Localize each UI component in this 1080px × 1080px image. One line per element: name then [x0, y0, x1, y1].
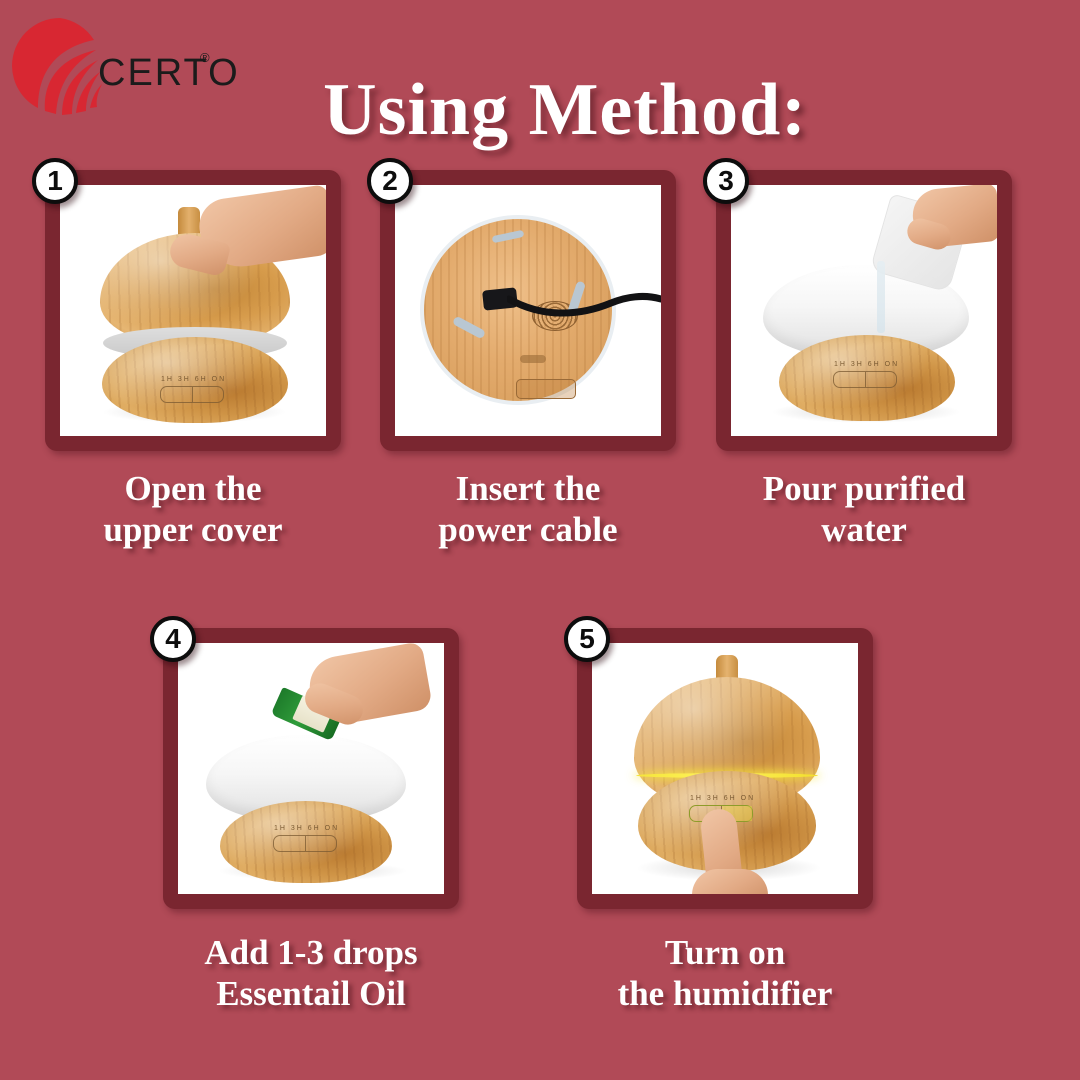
page-header: CERTO ® Using Method: — [0, 0, 1080, 140]
step-number-badge: 2 — [367, 158, 413, 204]
step-2-photo — [395, 185, 661, 436]
step-5-photo: 1H 3H 6H ON — [592, 643, 858, 894]
control-labels: 1H 3H 6H ON — [161, 376, 226, 383]
battery-label-plate — [516, 379, 576, 399]
vent-slot — [492, 230, 525, 244]
control-labels: 1H 3H 6H ON — [690, 795, 755, 802]
page-title: Using Method: — [265, 68, 865, 153]
registered-trademark-icon: ® — [200, 50, 210, 65]
step-4-photo: 1H 3H 6H ON — [178, 643, 444, 894]
control-buttons[interactable] — [833, 371, 897, 388]
step-number-badge: 4 — [150, 616, 196, 662]
step-number-badge: 3 — [703, 158, 749, 204]
step-4-caption: Add 1-3 drops Essentail Oil — [143, 932, 479, 1015]
water-stream — [877, 261, 885, 333]
step-3-caption: Pour purified water — [696, 468, 1032, 551]
power-cable — [507, 281, 661, 327]
step-1-photo: 1H 3H 6H ON — [60, 185, 326, 436]
control-labels: 1H 3H 6H ON — [274, 825, 339, 832]
control-buttons[interactable] — [160, 386, 224, 403]
step-2-caption: Insert the power cable — [360, 468, 696, 551]
hand — [692, 869, 768, 894]
step-number-badge: 5 — [564, 616, 610, 662]
brand-name: CERTO — [98, 52, 240, 95]
step-3-photo: 1H 3H 6H ON — [731, 185, 997, 436]
step-1-caption: Open the upper cover — [25, 468, 361, 551]
vent-slot — [520, 355, 546, 363]
step-number-badge: 1 — [32, 158, 78, 204]
control-buttons[interactable] — [273, 835, 337, 852]
vent-slot — [452, 316, 486, 340]
step-5-caption: Turn on the humidifier — [557, 932, 893, 1015]
certo-swirl-logo-icon — [8, 16, 112, 120]
control-labels: 1H 3H 6H ON — [834, 361, 899, 368]
